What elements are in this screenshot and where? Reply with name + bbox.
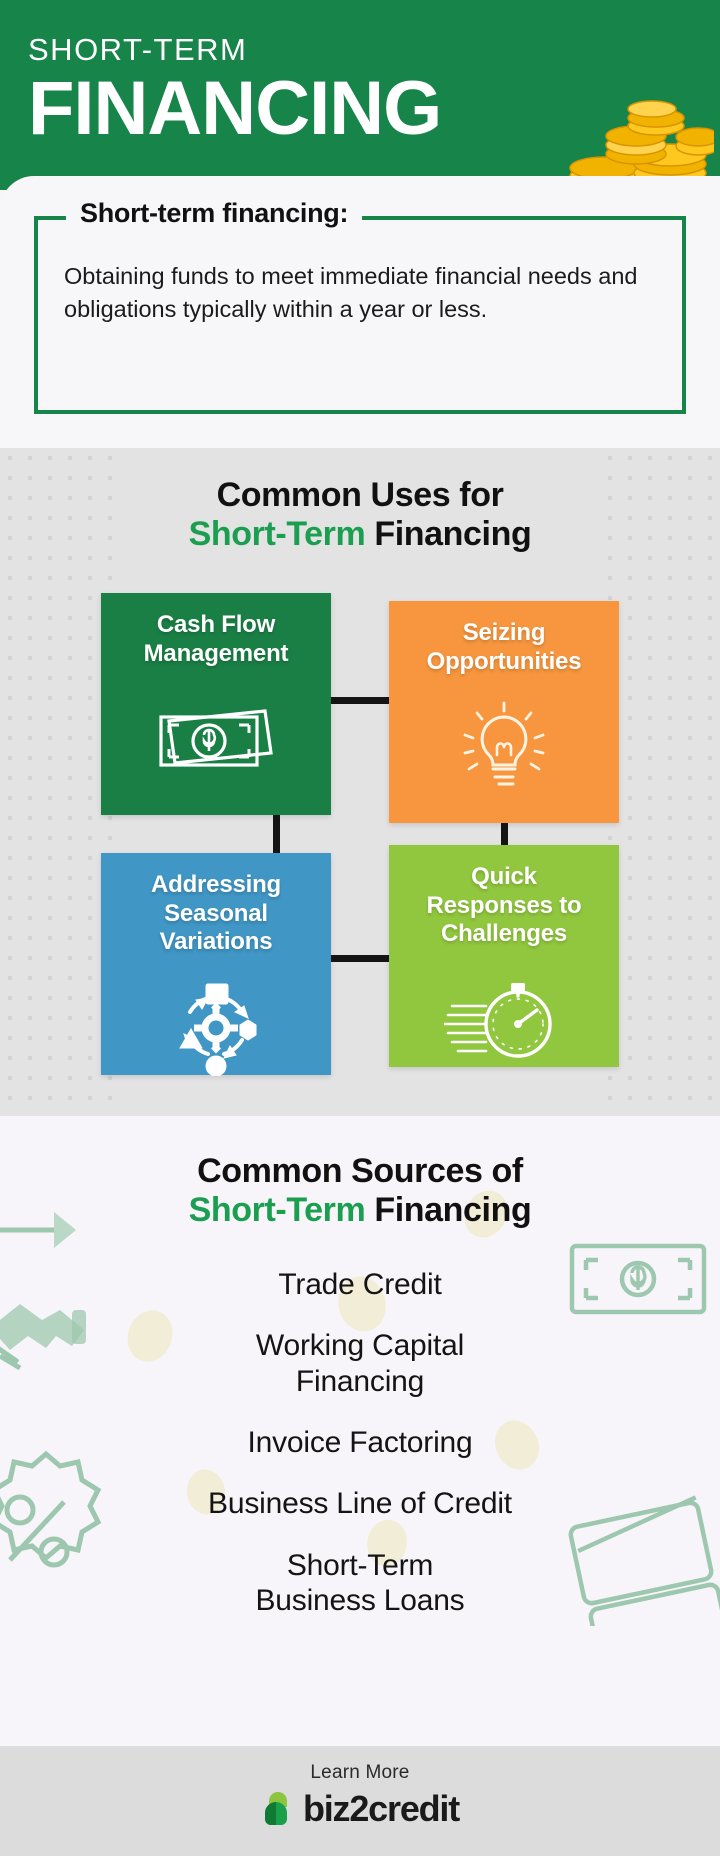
definition-section: Short-term financing: Obtaining funds to… [0, 176, 720, 448]
use-card-title: Seizing Opportunities [389, 619, 619, 677]
lightbulb-icon [389, 690, 619, 800]
common-uses-section: Common Uses for Short-Term Financing Cas… [0, 448, 720, 1116]
common-sources-heading-rest: Financing [374, 1191, 531, 1229]
leaf-logo-icon [261, 1789, 295, 1829]
list-item: Invoice Factoring [0, 1425, 720, 1460]
common-sources-heading-accent: Short-Term [189, 1191, 366, 1229]
header-kicker: SHORT-TERM [28, 34, 720, 65]
list-item: Working Capital Financing [0, 1328, 720, 1399]
cycle-gear-icon [101, 971, 331, 1081]
definition-body: Obtaining funds to meet immediate financ… [64, 260, 656, 327]
common-sources-section: Common Sources of Short-Term Financing T… [0, 1116, 720, 1746]
uses-grid: Cash Flow Management Seizing [101, 593, 619, 1075]
common-sources-heading-line2: Short-Term Financing [0, 1191, 720, 1230]
list-item: Short-Term Business Loans [0, 1548, 720, 1619]
connector-horizontal-top [331, 697, 389, 704]
use-card-cash-flow-management[interactable]: Cash Flow Management [101, 593, 331, 815]
use-card-addressing-seasonal-variations[interactable]: Addressing Seasonal Variations [101, 853, 331, 1075]
common-uses-heading-rest: Financing [374, 515, 531, 553]
common-uses-heading-accent: Short-Term [189, 515, 366, 553]
definition-title: Short-term financing: [66, 198, 362, 229]
stopwatch-icon [389, 963, 619, 1073]
use-card-title: Cash Flow Management [101, 611, 331, 669]
common-uses-heading-line2: Short-Term Financing [0, 515, 720, 554]
use-card-seizing-opportunities[interactable]: Seizing Opportunities [389, 601, 619, 823]
learn-more-label: Learn More [0, 1762, 720, 1784]
gold-coin-stack-icon [484, 76, 714, 190]
list-item: Business Line of Credit [0, 1486, 720, 1521]
definition-box: Short-term financing: Obtaining funds to… [34, 216, 686, 414]
infographic-page: SHORT-TERM FINANCING [0, 0, 720, 1800]
banknote-dollar-icon [101, 682, 331, 792]
use-card-title: Quick Responses to Challenges [389, 863, 619, 949]
use-card-quick-responses-to-challenges[interactable]: Quick Responses to Challenges [389, 845, 619, 1067]
use-card-title: Addressing Seasonal Variations [101, 871, 331, 957]
common-uses-heading: Common Uses for Short-Term Financing [0, 476, 720, 555]
brand-name: biz2credit [303, 1788, 459, 1830]
footer: Learn More biz2credit [0, 1746, 720, 1856]
common-sources-heading: Common Sources of Short-Term Financing [0, 1152, 720, 1231]
header-banner: SHORT-TERM FINANCING [0, 0, 720, 190]
list-item: Trade Credit [0, 1267, 720, 1302]
common-uses-heading-line1: Common Uses for [0, 476, 720, 515]
connector-horizontal-bottom [331, 955, 389, 962]
sources-list: Trade Credit Working Capital Financing I… [0, 1267, 720, 1619]
common-sources-heading-line1: Common Sources of [0, 1152, 720, 1191]
connector-vertical-left [273, 815, 280, 853]
brand-logo[interactable]: biz2credit [0, 1788, 720, 1830]
connector-vertical-right [501, 823, 508, 845]
